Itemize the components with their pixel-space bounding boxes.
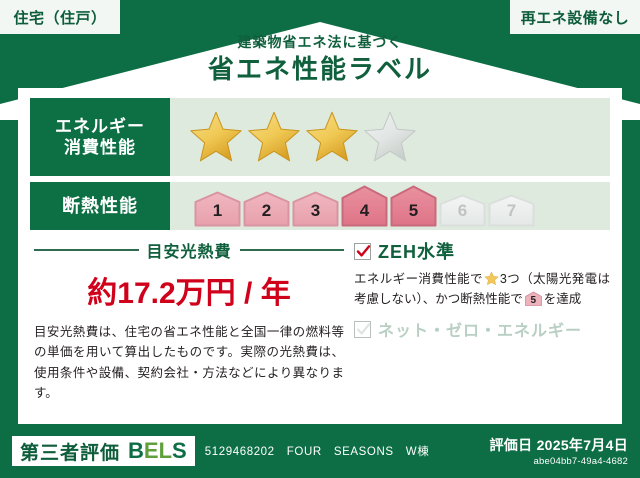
check-icon — [356, 244, 371, 259]
insulation-level-4: 4 — [341, 185, 388, 227]
label-footer: 第三者評価 BELS 5129468202 FOUR SEASONS W棟 評価… — [0, 424, 640, 478]
header-subtitle: 建築物省エネ法に基づく — [0, 34, 640, 51]
page-title: 省エネ性能ラベル — [0, 53, 640, 86]
insulation-level-number: 7 — [488, 201, 535, 221]
insulation-performance-row: 断熱性能 1234567 — [30, 182, 610, 230]
nze-title-row: ネット・ゼロ・エネルギー — [354, 317, 610, 341]
insulation-badge-inline-value: 5 — [525, 295, 542, 306]
evaluation-date: 評価日 2025年7月4日 — [489, 435, 628, 455]
bels-logo-mark: BELS — [128, 438, 187, 464]
star-icon-filled — [304, 110, 360, 164]
zeh-title-row: ZEH水準 — [354, 238, 610, 264]
insulation-performance-value: 1234567 — [170, 182, 610, 230]
insulation-performance-label: 断熱性能 — [30, 182, 170, 230]
zeh-description-part1: エネルギー消費性能で — [354, 272, 483, 286]
energy-performance-label-line2: 消費性能 — [64, 137, 136, 158]
badge-renewable-energy-label: 再エネ設備なし — [521, 7, 630, 28]
nze-checkbox[interactable] — [354, 321, 371, 338]
rule-left — [34, 249, 139, 251]
badge-renewable-energy: 再エネ設備なし — [510, 0, 640, 34]
evaluation-meta: 評価日 2025年7月4日 abe04bb7-49a4-4682 — [489, 435, 628, 467]
energy-performance-label-line1: エネルギー — [55, 116, 145, 137]
energy-performance-row: エネルギー 消費性能 — [30, 98, 610, 176]
insulation-level-6: 6 — [439, 194, 486, 227]
insulation-badge-inline: 5 — [525, 291, 542, 306]
insulation-level-number: 3 — [292, 201, 339, 221]
utility-cost-title: 目安光熱費 — [147, 238, 232, 262]
rule-right — [240, 249, 345, 251]
star-icon-filled — [188, 110, 244, 164]
zeh-description: エネルギー消費性能で3つ（太陽光発電は考慮しない）、かつ断熱性能で5を達成 — [354, 269, 610, 309]
nze-title: ネット・ゼロ・エネルギー — [378, 317, 582, 341]
insulation-level-3: 3 — [292, 191, 339, 227]
insulation-level-number: 4 — [341, 201, 388, 221]
insulation-level-number: 6 — [439, 201, 486, 221]
utility-cost-amount: 約17.2万円 / 年 — [34, 268, 344, 312]
insulation-level-number: 5 — [390, 201, 437, 221]
energy-performance-value — [170, 98, 610, 176]
insulation-level-5: 5 — [390, 185, 437, 227]
bels-logo: 第三者評価 BELS — [12, 436, 195, 466]
bels-logo-el: EL — [144, 438, 172, 463]
label-header: 建築物省エネ法に基づく 省エネ性能ラベル — [0, 34, 640, 85]
utility-cost-section: 目安光熱費 約17.2万円 / 年 目安光熱費は、住宅の省エネ性能と全国一律の燃… — [30, 238, 348, 403]
badge-building-type-label: 住宅（住戸） — [13, 7, 106, 28]
badge-building-type: 住宅（住戸） — [0, 0, 120, 34]
bels-logo-b: B — [128, 438, 144, 463]
insulation-level-scale: 1234567 — [194, 185, 535, 227]
zeh-description-part2: を達成 — [544, 292, 582, 306]
star-icon-inline — [484, 271, 499, 286]
zeh-section: ZEH水準 エネルギー消費性能で3つ（太陽光発電は考慮しない）、かつ断熱性能で5… — [348, 238, 610, 403]
evaluation-uuid: abe04bb7-49a4-4682 — [489, 456, 628, 467]
energy-performance-label: エネルギー 消費性能 — [30, 98, 170, 176]
insulation-level-1: 1 — [194, 191, 241, 227]
utility-cost-heading: 目安光熱費 — [34, 238, 344, 262]
insulation-level-7: 7 — [488, 194, 535, 227]
bels-energy-label: 住宅（住戸） 再エネ設備なし 建築物省エネ法に基づく 省エネ性能ラベル エネルギ… — [0, 0, 640, 478]
insulation-performance-label-text: 断熱性能 — [62, 195, 138, 218]
insulation-level-2: 2 — [243, 191, 290, 227]
bels-logo-ja: 第三者評価 — [20, 438, 120, 465]
building-identifier: 5129468202 FOUR SEASONS W棟 — [205, 443, 430, 459]
check-icon-empty — [356, 322, 371, 337]
label-main-panel: エネルギー 消費性能 断熱性能 1234567 目安光熱費 — [18, 88, 622, 424]
label-lower-section: 目安光熱費 約17.2万円 / 年 目安光熱費は、住宅の省エネ性能と全国一律の燃… — [30, 238, 610, 403]
star-icon-filled — [246, 110, 302, 164]
zeh-title: ZEH水準 — [378, 238, 455, 264]
zeh-checkbox[interactable] — [354, 243, 371, 260]
bels-logo-s: S — [172, 438, 187, 463]
utility-cost-note: 目安光熱費は、住宅の省エネ性能と全国一律の燃料等の単価を用いて算出したものです。… — [34, 322, 344, 403]
insulation-level-number: 1 — [194, 201, 241, 221]
insulation-level-number: 2 — [243, 201, 290, 221]
star-rating — [188, 110, 418, 164]
star-icon-empty — [362, 110, 418, 164]
